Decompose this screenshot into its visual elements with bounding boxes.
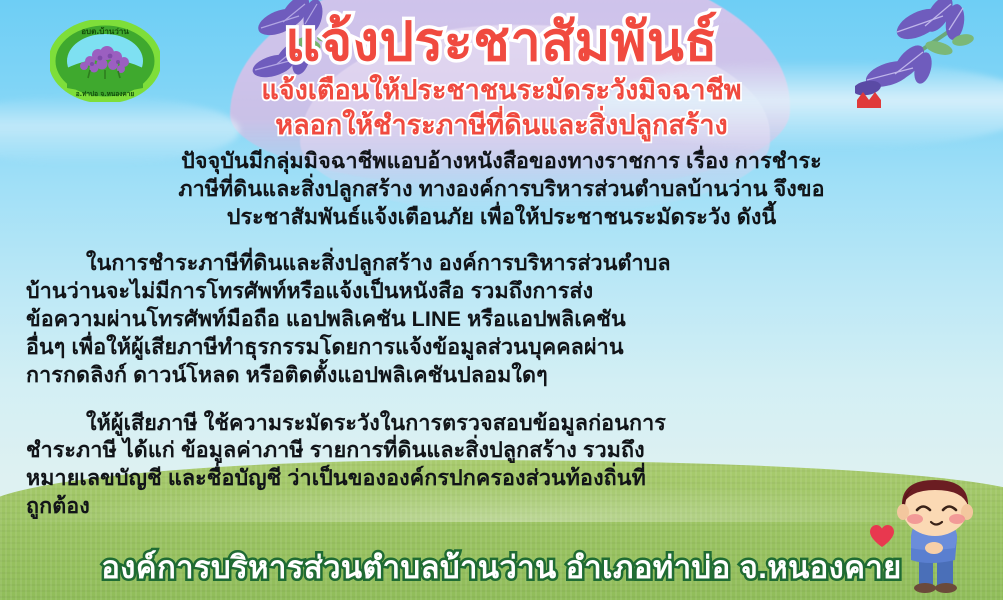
heart-icon: [869, 524, 895, 548]
paragraph-2: ในการชำระภาษีที่ดินและสิ่งปลูกสร้าง องค์…: [26, 250, 977, 390]
paragraph-2-line-2: บ้านว่านจะไม่มีการโทรศัพท์หรือแจ้งเป็นหน…: [26, 278, 977, 306]
announcement-poster: อบต.บ้านว่าน อ.ท่าบ่อ จ.หนองคาย: [0, 0, 1003, 600]
paragraph-2-line-3: ข้อความผ่านโทรศัพท์มือถือ แอปพลิเคชัน LI…: [26, 306, 977, 334]
footer: องค์การบริหารส่วนตำบลบ้านว่าน อำเภอท่าบ่…: [0, 550, 1003, 586]
paragraph-3-line-1-text: ให้ผู้เสียภาษี ใช้ความระมัดระวังในการตรว…: [86, 411, 666, 435]
paragraph-2-line-4: อื่นๆ เพื่อให้ผู้เสียภาษีทำธุรกรรมโดยการ…: [26, 334, 977, 362]
paragraph-3-line-1: ให้ผู้เสียภาษี ใช้ความระมัดระวังในการตรว…: [26, 410, 977, 438]
paragraph-2-line-1-text: ในการชำระภาษีที่ดินและสิ่งปลูกสร้าง องค์…: [86, 251, 671, 275]
subtitle-line-2: หลอกให้ชำระภาษีที่ดินและสิ่งปลูกสร้าง: [0, 108, 1003, 144]
paragraph-3-line-3: หมายเลขบัญชี และชื่อบัญชี ว่าเป็นขององค์…: [26, 465, 977, 493]
paragraph-2-line-5: การกดลิงก์ ดาวน์โหลด หรือติดตั้งแอปพลิเค…: [26, 362, 977, 390]
body-content: ปัจจุบันมีกลุ่มมิจฉาชีพแอบอ้างหนังสือของ…: [0, 148, 1003, 533]
paragraph-1: ปัจจุบันมีกลุ่มมิจฉาชีพแอบอ้างหนังสือของ…: [26, 148, 977, 232]
paragraph-3-line-2: ชำระภาษี ได้แก่ ข้อมูลค่าภาษี รายการที่ด…: [26, 437, 977, 465]
paragraph-1-line-1: ปัจจุบันมีกลุ่มมิจฉาชีพแอบอ้างหนังสือของ…: [26, 148, 977, 176]
paragraph-3-line-4: ถูกต้อง: [26, 493, 977, 521]
subtitle-line-1: แจ้งเตือนให้ประชาชนระมัดระวังมิจฉาชีพ: [0, 73, 1003, 109]
footer-organization-name: องค์การบริหารส่วนตำบลบ้านว่าน อำเภอท่าบ่…: [101, 550, 901, 586]
paragraph-2-line-1: ในการชำระภาษีที่ดินและสิ่งปลูกสร้าง องค์…: [26, 250, 977, 278]
page-title: แจ้งประชาสัมพันธ์: [0, 14, 1003, 71]
paragraph-3: ให้ผู้เสียภาษี ใช้ความระมัดระวังในการตรว…: [26, 410, 977, 522]
paragraph-1-line-2: ภาษีที่ดินและสิ่งปลูกสร้าง ทางองค์การบริ…: [26, 176, 977, 204]
paragraph-1-line-3: ประชาสัมพันธ์แจ้งเตือนภัย เพื่อให้ประชาช…: [26, 204, 977, 232]
title-block: แจ้งประชาสัมพันธ์ แจ้งเตือนให้ประชาชนระม…: [0, 14, 1003, 144]
page-subtitle: แจ้งเตือนให้ประชาชนระมัดระวังมิจฉาชีพ หล…: [0, 73, 1003, 144]
